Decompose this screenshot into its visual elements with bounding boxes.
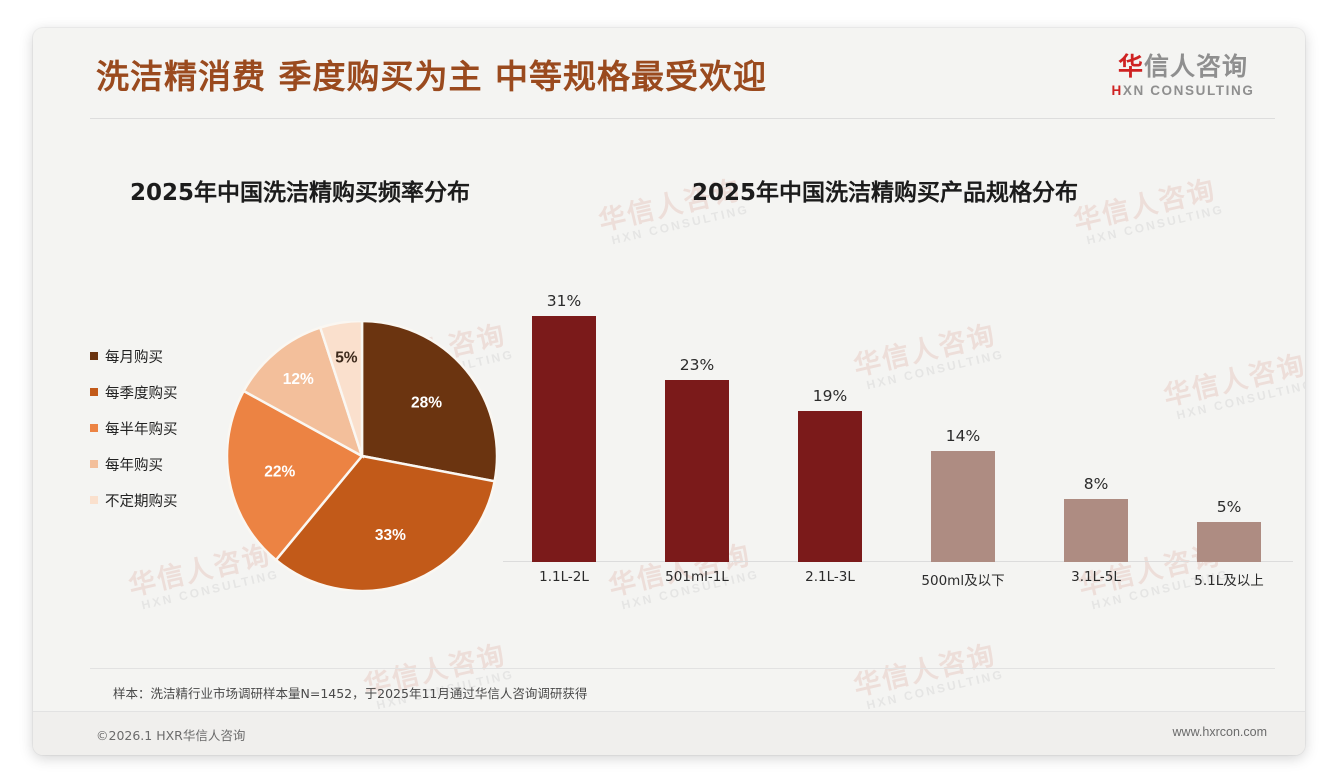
bar-value-label: 8%: [1053, 475, 1139, 493]
bar-column[interactable]: 31%1.1L-2L: [521, 316, 607, 562]
bar-value-label: 5%: [1186, 498, 1272, 516]
bar-rect[interactable]: [931, 451, 995, 562]
pie-chart-legend: 每月购买每季度购买每半年购买每年购买不定期购买: [90, 338, 210, 518]
pie-slice-label: 33%: [375, 527, 406, 544]
legend-item[interactable]: 每半年购买: [90, 410, 210, 446]
footnote-divider: [90, 668, 1275, 669]
bar-value-label: 31%: [521, 292, 607, 310]
slide-header: 洗洁精消费 季度购买为主 中等规格最受欢迎 华信人咨询 HXN CONSULTI…: [33, 28, 1305, 120]
bar-chart: 31%1.1L-2L23%501ml-1L19%2.1L-3L14%500ml及…: [503, 263, 1293, 583]
legend-item-label: 每月购买: [105, 346, 163, 367]
page-title: 洗洁精消费 季度购买为主 中等规格最受欢迎: [96, 50, 767, 98]
legend-swatch-icon: [90, 460, 98, 468]
legend-item[interactable]: 每年购买: [90, 446, 210, 482]
bar-column[interactable]: 5%5.1L及以上: [1186, 522, 1272, 562]
copyright-text: ©2026.1 HXR华信人咨询: [96, 725, 245, 744]
bar-chart-axis-line: [503, 561, 1293, 562]
logo-english-highlight: H: [1112, 83, 1123, 98]
bar-value-label: 19%: [787, 387, 873, 405]
bar-value-label: 23%: [654, 356, 740, 374]
bar-chart-title: 2025年中国洗洁精购买产品规格分布: [692, 173, 1078, 207]
legend-swatch-icon: [90, 424, 98, 432]
logo-chinese: 华信人咨询: [1093, 54, 1273, 80]
legend-item-label: 每季度购买: [105, 382, 178, 403]
bar-rect[interactable]: [1197, 522, 1261, 562]
website-link[interactable]: www.hxrcon.com: [1173, 725, 1267, 739]
bar-rect[interactable]: [532, 316, 596, 562]
bar-rect[interactable]: [665, 380, 729, 563]
pie-slice-label: 22%: [264, 464, 295, 481]
bar-column[interactable]: 14%500ml及以下: [920, 451, 1006, 562]
bar-category-label: 5.1L及以上: [1164, 569, 1294, 589]
watermark: 华信人咨询HXN CONSULTING: [849, 632, 1005, 714]
pie-slice-label: 28%: [411, 395, 442, 412]
footnote-text: 样本：洗洁精行业市场调研样本量N=1452，于2025年11月通过华信人咨询调研…: [113, 683, 587, 702]
legend-item[interactable]: 不定期购买: [90, 482, 210, 518]
bar-category-label: 500ml及以下: [898, 569, 1028, 589]
bar-column[interactable]: 8%3.1L-5L: [1053, 499, 1139, 563]
bar-rect[interactable]: [798, 411, 862, 562]
bar-rect[interactable]: [1064, 499, 1128, 563]
pie-chart: 28%33%22%12%5%: [227, 321, 497, 591]
bar-category-label: 1.1L-2L: [499, 569, 629, 585]
legend-item-label: 每年购买: [105, 454, 163, 475]
logo-chinese-rest: 信人咨询: [1144, 52, 1248, 81]
legend-swatch-icon: [90, 388, 98, 396]
bar-category-label: 2.1L-3L: [765, 569, 895, 585]
bar-category-label: 3.1L-5L: [1031, 569, 1161, 585]
pie-slice-label: 12%: [283, 371, 314, 388]
legend-item-label: 不定期购买: [105, 490, 178, 511]
slide-footer: ©2026.1 HXR华信人咨询 www.hxrcon.com: [33, 712, 1305, 755]
legend-swatch-icon: [90, 496, 98, 504]
legend-item[interactable]: 每季度购买: [90, 374, 210, 410]
logo-english-rest: XN CONSULTING: [1123, 83, 1255, 98]
legend-item[interactable]: 每月购买: [90, 338, 210, 374]
pie-chart-title: 2025年中国洗洁精购买频率分布: [130, 173, 470, 207]
watermark: 华信人咨询HXN CONSULTING: [1069, 167, 1225, 249]
bar-column[interactable]: 19%2.1L-3L: [787, 411, 873, 562]
title-divider: [90, 118, 1275, 119]
slide-card: 华信人咨询HXN CONSULTING华信人咨询HXN CONSULTING华信…: [33, 28, 1305, 755]
logo-english: HXN CONSULTING: [1093, 83, 1273, 98]
bar-column[interactable]: 23%501ml-1L: [654, 380, 740, 563]
logo-chinese-highlight: 华: [1118, 52, 1144, 81]
pie-slice-label: 5%: [335, 349, 358, 366]
bar-category-label: 501ml-1L: [632, 569, 762, 585]
bar-value-label: 14%: [920, 427, 1006, 445]
legend-swatch-icon: [90, 352, 98, 360]
pie-chart-svg: 28%33%22%12%5%: [227, 321, 497, 591]
company-logo: 华信人咨询 HXN CONSULTING: [1093, 54, 1273, 98]
legend-item-label: 每半年购买: [105, 418, 178, 439]
